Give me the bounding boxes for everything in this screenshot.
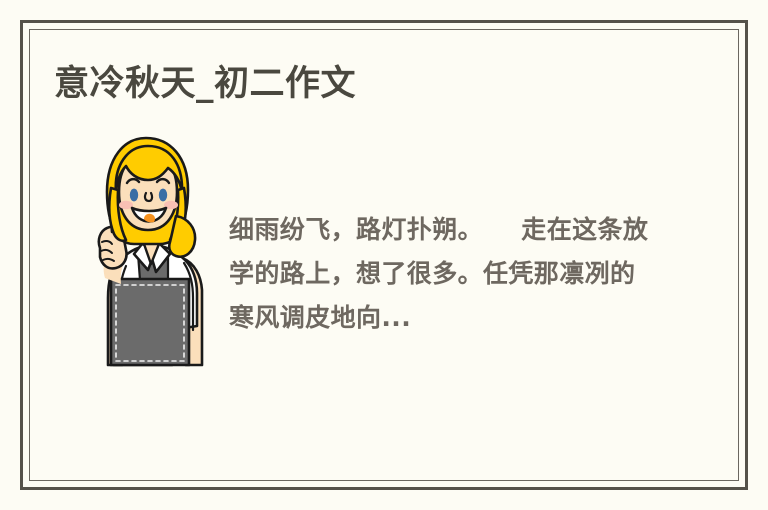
article-excerpt: 细雨纷飞，路灯扑朔。 走在这条放学的路上，想了很多。任凭那凛冽的寒风调皮地向..… xyxy=(229,208,649,340)
apron-panel xyxy=(111,279,189,365)
page-title: 意冷秋天_初二作文 xyxy=(54,64,356,104)
article-content: 细雨纷飞，路灯扑朔。 走在这条放学的路上，想了很多。任凭那凛冽的寒风调皮地向..… xyxy=(54,130,694,400)
page-root: 意冷秋天_初二作文 xyxy=(0,0,768,510)
eye-right xyxy=(159,189,167,202)
cartoon-girl-svg xyxy=(64,130,224,375)
eye-left xyxy=(130,189,138,202)
cartoon-girl-illustration xyxy=(64,130,224,375)
